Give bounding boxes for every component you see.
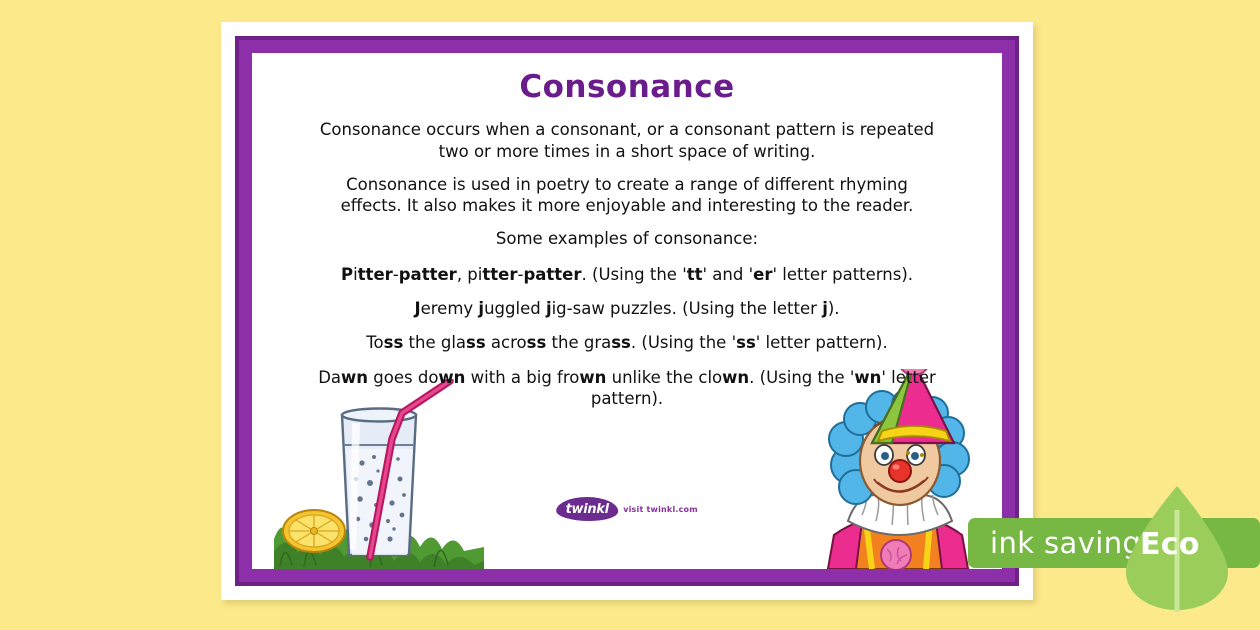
examples-intro: Some examples of consonance: [282,228,972,249]
poster-frame: Consonance Consonance occurs when a cons… [221,22,1033,600]
paragraph-usage: Consonance is used in poetry to create a… [282,174,972,218]
poster-content-area: Consonance Consonance occurs when a cons… [252,53,1002,569]
twinkl-blob-icon: twinkl [556,497,618,521]
example-pitter-patter: Pitter-patter, pitter-patter. (Using the… [282,264,972,285]
poster-purple-border: Consonance Consonance occurs when a cons… [235,36,1019,586]
example-jeremy: Jeremy juggled jig-saw puzzles. (Using t… [282,298,972,319]
twinkl-tagline: visit twinkl.com [623,505,698,514]
example-toss-glass: Toss the glass across the grass. (Using … [282,332,972,353]
twinkl-logo: twinkl visit twinkl.com [556,497,698,521]
eco-label: Eco [1140,527,1200,562]
page-title: Consonance [282,69,972,105]
twinkl-wordmark: twinkl [566,502,609,517]
ink-saving-eco-badge: ink saving Eco [968,512,1260,574]
example-dawn-clown: Dawn goes down with a big frown unlike t… [282,367,972,410]
poster-text-content: Consonance Consonance occurs when a cons… [252,53,1002,410]
paragraph-definition: Consonance occurs when a consonant, or a… [282,119,972,163]
